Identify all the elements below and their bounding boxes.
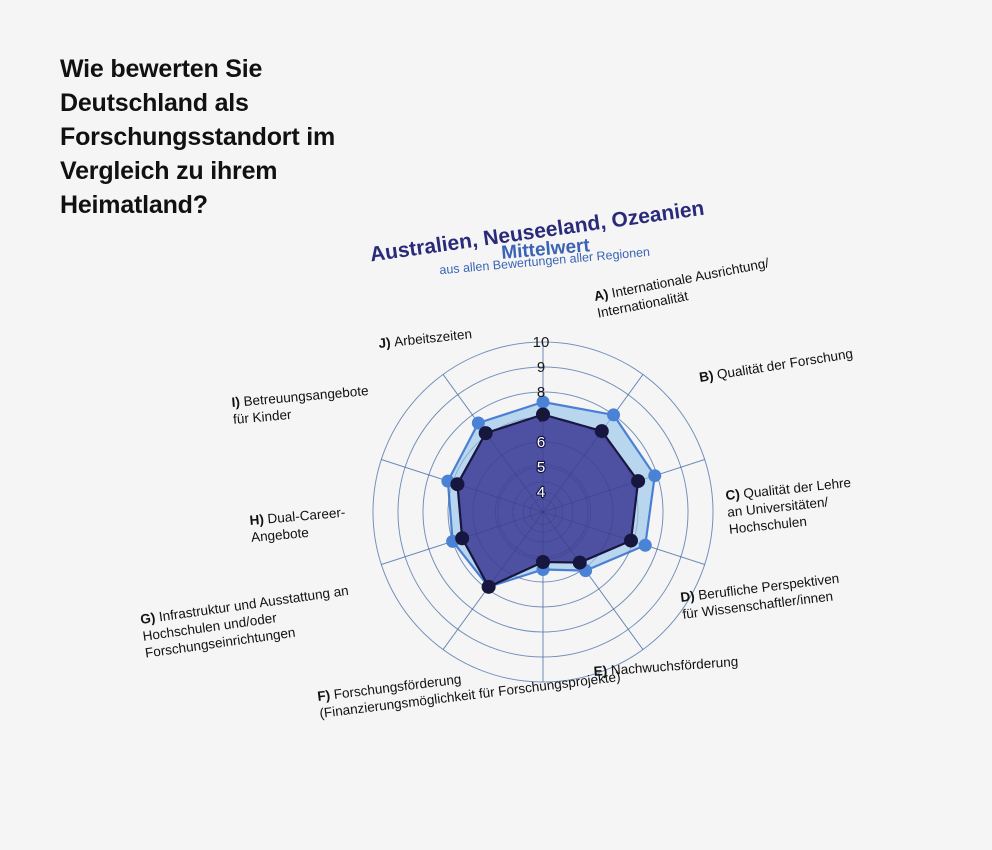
axis-label-h: H) Dual-Career-Angebote [249,505,347,545]
data-point-region [450,477,464,491]
data-point-mean [648,469,661,482]
axis-label-text: Nachwuchsförderung [610,654,738,678]
data-point-region [479,426,493,440]
axis-label-key: C) [725,486,744,503]
axis-label-line: J) Arbeitszeiten [378,326,473,351]
axis-label-key: B) [698,367,718,385]
data-point-region [573,556,587,570]
axis-label-line: für Kinder [232,407,292,427]
radial-tick-label: 9 [537,359,545,376]
radial-tick-label: 8 [537,384,545,401]
data-point-region [624,534,638,548]
data-point-region [631,474,645,488]
axis-label-text: Qualität der Forschung [716,346,854,382]
axis-label-key: J) [378,334,395,351]
axis-label-key: F) [317,687,335,704]
axis-label-key: G) [139,610,160,627]
axis-label-text: Arbeitszeiten [393,326,472,349]
axis-label-d: D) Berufliche Perspektivenfür Wissenscha… [680,571,843,622]
data-point-mean [607,408,620,421]
data-point-region [482,580,496,594]
axis-label-j: J) Arbeitszeiten [378,326,473,351]
axis-label-i: I) Betreuungsangebotefür Kinder [231,383,371,427]
axis-label-line: Angebote [250,525,309,545]
radial-tick-label: 10 [533,334,550,351]
radial-tick-label: 5 [537,459,545,476]
radar-chart: 10987654 A) Internationale Ausrichtung/I… [0,0,992,850]
axis-label-line: B) Qualität der Forschung [698,346,854,385]
axis-label-f: F) Forschungsförderung(Finanzierungsmögl… [317,652,622,721]
axis-label-line: H) Dual-Career- [249,505,346,528]
data-point-region [595,424,609,438]
radial-tick-label: 7 [537,409,545,426]
axis-label-key: D) [680,588,700,605]
axis-label-b: B) Qualität der Forschung [698,346,854,385]
data-point-region [536,555,550,569]
radial-tick-label: 6 [537,434,545,451]
axis-label-key: H) [249,511,268,528]
axis-label-c: C) Qualität der Lehrean Universitäten/Ho… [725,475,856,537]
axis-label-text: Dual-Career- [267,505,346,527]
radial-tick-label: 4 [537,484,545,501]
data-point-region [455,531,469,545]
axis-label-text: Betreuungsangebote [243,383,369,409]
axis-label-line: I) Betreuungsangebote [231,383,369,410]
radar-chart-svg: 10987654 A) Internationale Ausrichtung/I… [0,0,992,850]
axis-label-text: Internationale Ausrichtung/ [610,255,770,300]
axis-label-a: A) Internationale Ausrichtung/Internatio… [593,255,774,320]
axis-label-g: G) Infrastruktur und Ausstattung anHochs… [139,583,354,661]
chart-page: Wie bewerten Sie Deutschland als Forschu… [0,0,992,850]
data-point-mean [639,539,652,552]
